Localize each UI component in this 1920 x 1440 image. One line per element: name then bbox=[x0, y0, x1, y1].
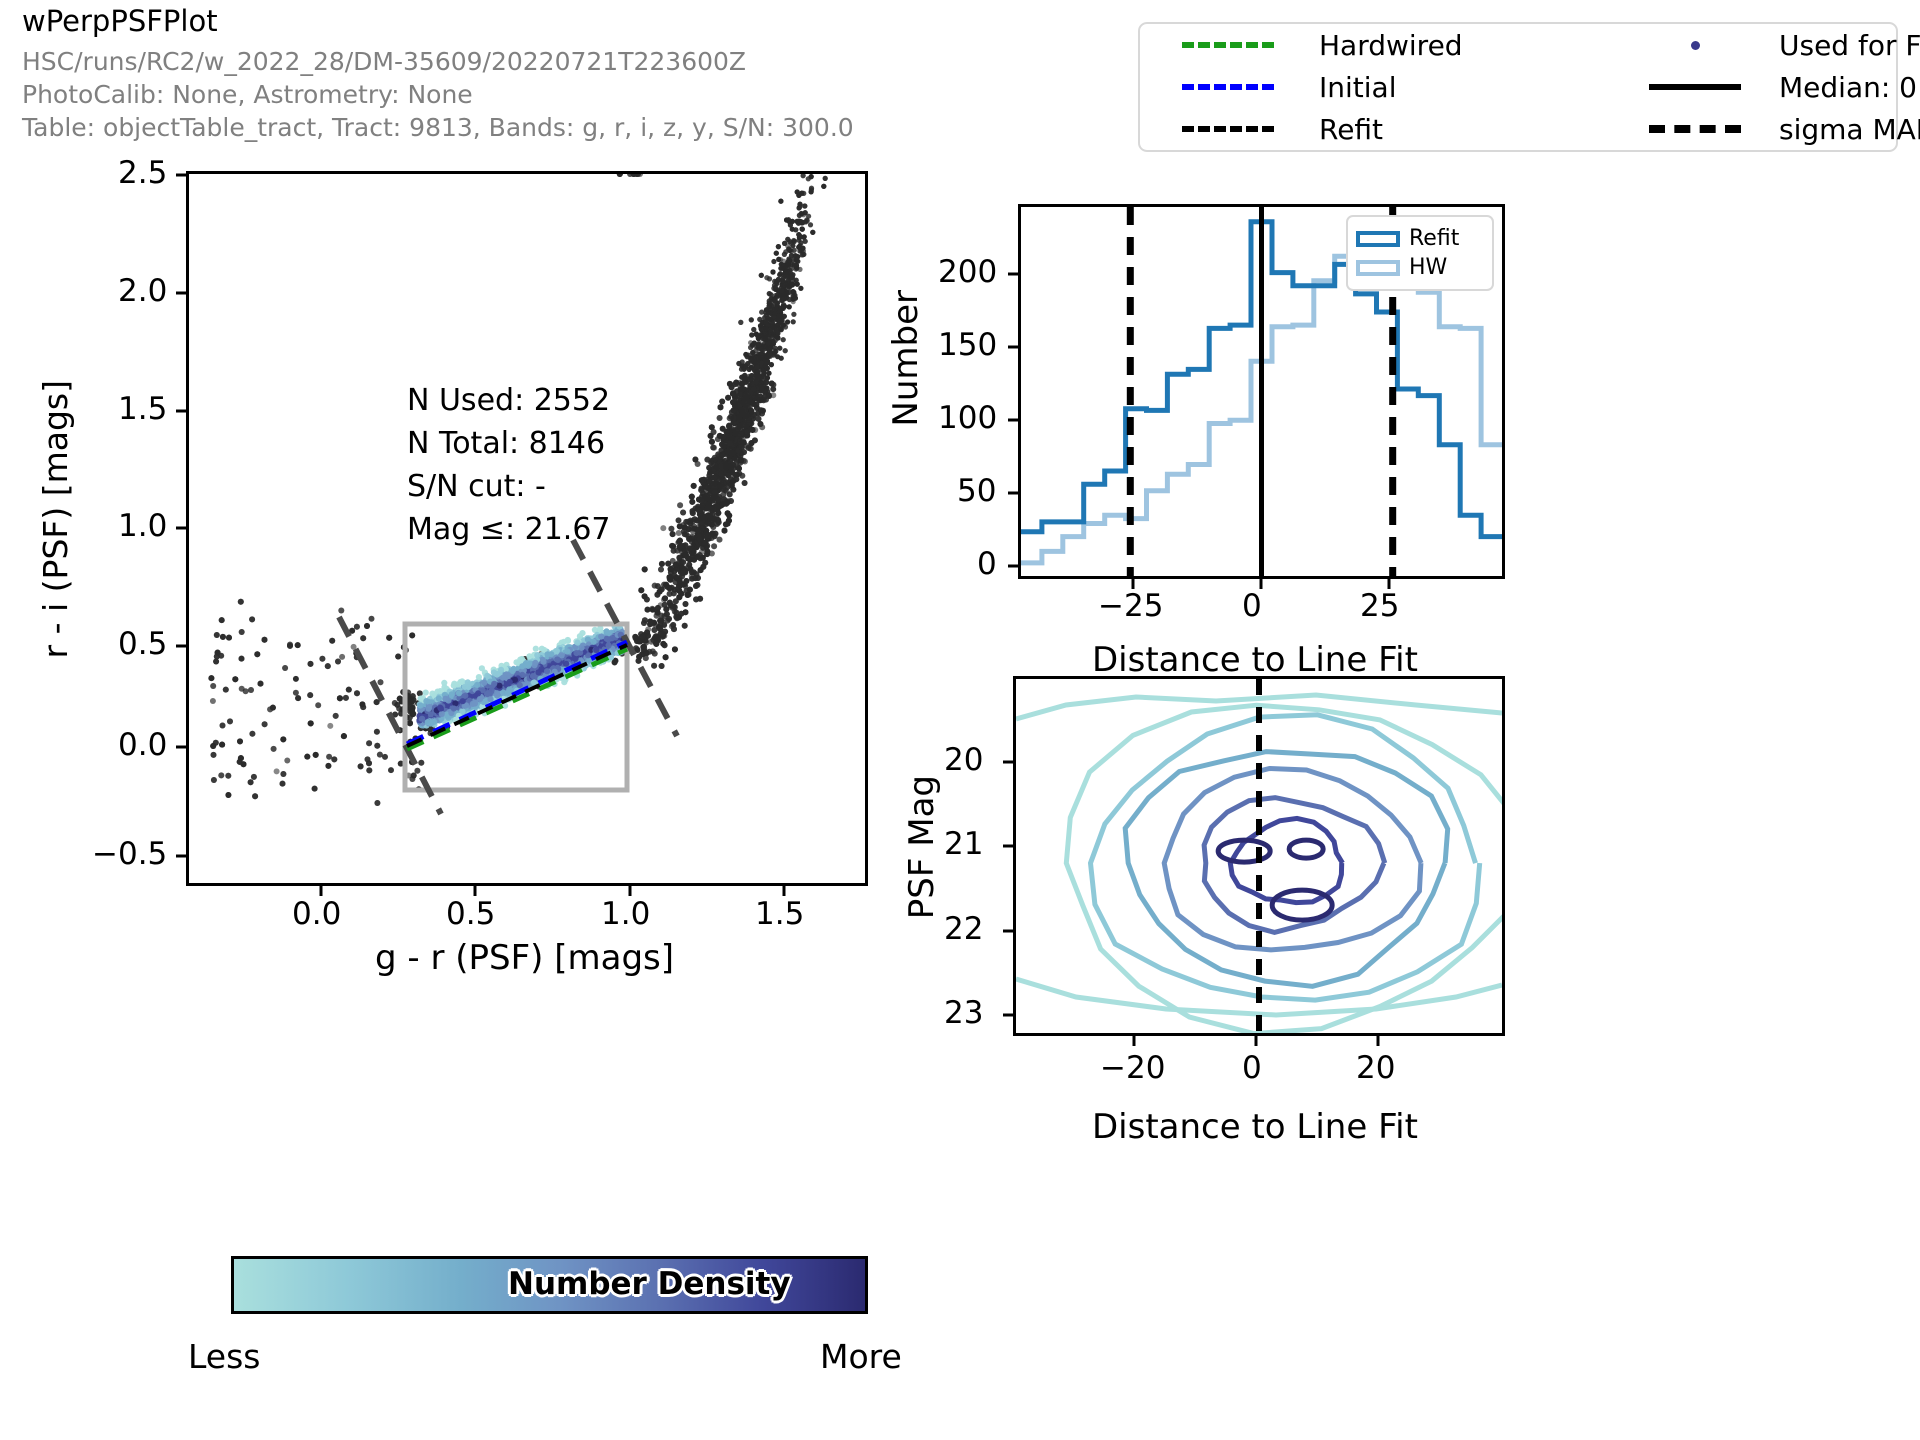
cont-ytick-20: 20 bbox=[944, 742, 983, 778]
main-plot-annotation: N Used: 2552 N Total: 8146 S/N cut: - Ma… bbox=[407, 379, 611, 551]
legend-label-sigma-mad: sigma MAD: 24.551 bbox=[1775, 113, 1920, 146]
cont-x-axis-label: Distance to Line Fit bbox=[1092, 1107, 1418, 1147]
cont-ytick-22: 22 bbox=[944, 911, 983, 947]
legend-key-hardwired bbox=[1140, 24, 1315, 66]
cont-ytick-23: 23 bbox=[944, 995, 983, 1031]
main-y-axis-label: r - i (PSF) [mags] bbox=[36, 380, 75, 658]
main-x-axis-label: g - r (PSF) [mags] bbox=[375, 938, 674, 978]
header-repo-path: HSC/runs/RC2/w_2022_28/DM-35609/20220721… bbox=[22, 47, 746, 76]
legend-label-refit: Refit bbox=[1315, 113, 1615, 146]
histogram-axes: Refit HW bbox=[1018, 204, 1505, 579]
contour-axes bbox=[1013, 676, 1505, 1036]
hist-ytick-150: 150 bbox=[938, 327, 997, 363]
main-ytick-2_0: 2.0 bbox=[118, 273, 167, 309]
header-table-info: Table: objectTable_tract, Tract: 9813, B… bbox=[22, 113, 854, 142]
histogram-legend-label-hw: HW bbox=[1409, 255, 1447, 280]
hist-xtick-0: 0 bbox=[1242, 588, 1262, 624]
legend-key-refit bbox=[1140, 108, 1315, 150]
main-xtick-0_0: 0.0 bbox=[292, 896, 341, 932]
legend-label-median: Median: 0.354 bbox=[1775, 71, 1920, 104]
legend-key-initial bbox=[1140, 66, 1315, 108]
legend-label-used-for-fit: Used for Fit bbox=[1775, 29, 1920, 62]
colorbar-label: Number Density bbox=[508, 1266, 791, 1302]
page-title: wPerpPSFPlot bbox=[22, 4, 218, 38]
top-legend: Hardwired Used for Fit Initial Median: 0… bbox=[1138, 22, 1898, 152]
main-scatter-axes: N Used: 2552 N Total: 8146 S/N cut: - Ma… bbox=[186, 171, 868, 886]
cont-xtick-0: 0 bbox=[1242, 1050, 1262, 1086]
main-xtick-1_0: 1.0 bbox=[601, 896, 650, 932]
legend-key-median bbox=[1615, 66, 1775, 108]
hist-ytick-100: 100 bbox=[938, 400, 997, 436]
main-ytick-1_5: 1.5 bbox=[118, 391, 167, 427]
legend-label-hardwired: Hardwired bbox=[1315, 29, 1615, 62]
main-xtick-1_5: 1.5 bbox=[755, 896, 804, 932]
legend-key-sigma-mad bbox=[1615, 108, 1775, 150]
main-xtick-0_5: 0.5 bbox=[446, 896, 495, 932]
cont-xtick-neg20: −20 bbox=[1100, 1050, 1165, 1086]
hist-ytick-50: 50 bbox=[957, 473, 996, 509]
main-ytick-neg0_5: −0.5 bbox=[92, 836, 167, 872]
hist-ytick-200: 200 bbox=[938, 254, 997, 290]
cont-xtick-20: 20 bbox=[1356, 1050, 1395, 1086]
legend-label-initial: Initial bbox=[1315, 71, 1615, 104]
colorbar-high-label: More bbox=[820, 1337, 902, 1376]
hist-y-axis-label: Number bbox=[886, 290, 926, 427]
main-ytick-0_0: 0.0 bbox=[118, 727, 167, 763]
hist-xtick-neg25: −25 bbox=[1098, 588, 1163, 624]
cont-ytick-21: 21 bbox=[944, 826, 983, 862]
main-ytick-2_5: 2.5 bbox=[118, 155, 167, 191]
hist-xtick-25: 25 bbox=[1360, 588, 1399, 624]
header-calib-info: PhotoCalib: None, Astrometry: None bbox=[22, 80, 473, 109]
hist-ytick-0: 0 bbox=[977, 546, 997, 582]
histogram-legend-row-hw: HW bbox=[1356, 255, 1492, 280]
main-ytick-0_5: 0.5 bbox=[118, 626, 167, 662]
histogram-legend-label-refit: Refit bbox=[1409, 226, 1459, 251]
hist-x-axis-label: Distance to Line Fit bbox=[1092, 640, 1418, 680]
histogram-legend-row-refit: Refit bbox=[1356, 226, 1492, 251]
cont-y-axis-label: PSF Mag bbox=[902, 775, 942, 919]
legend-key-used-for-fit bbox=[1615, 24, 1775, 66]
histogram-legend: Refit HW bbox=[1346, 215, 1494, 291]
contour-canvas bbox=[1016, 679, 1502, 1033]
main-ytick-1_0: 1.0 bbox=[118, 508, 167, 544]
colorbar-low-label: Less bbox=[188, 1337, 261, 1376]
